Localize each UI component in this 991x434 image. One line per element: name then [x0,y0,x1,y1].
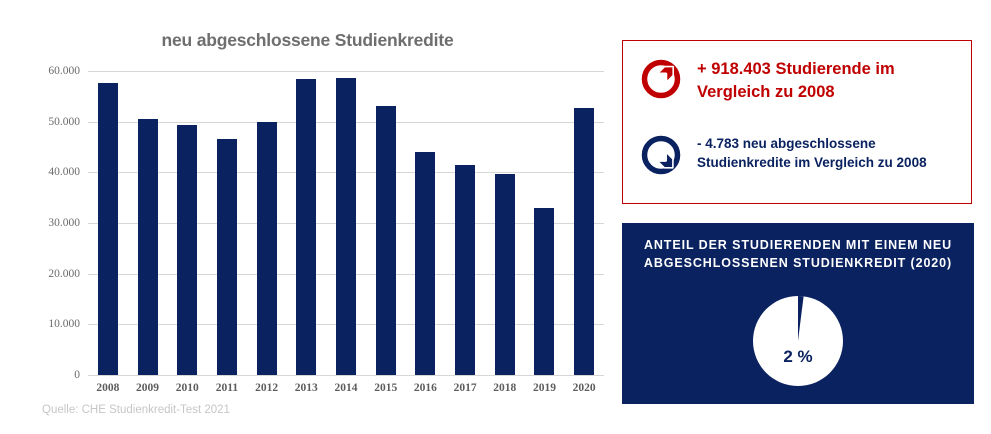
x-tick-label-2020: 2020 [562,382,606,394]
x-tick-label-2019: 2019 [522,382,566,394]
bar-chart-panel: neu abgeschlossene Studienkredite 60.000… [0,0,615,434]
pie-panel-title: ANTEIL DER STUDIERENDEN MIT EINEM NEU AB… [640,237,956,273]
chart-title: neu abgeschlossene Studienkredite [0,30,615,51]
y-tick-label: 60.000 [24,65,80,77]
bar-2020 [574,108,594,375]
x-tick-label-2011: 2011 [205,382,249,394]
x-tick-label-2016: 2016 [403,382,447,394]
stat-text-students: + 918.403 Studierende im Vergleich zu 20… [697,57,949,104]
x-tick-label-2010: 2010 [165,382,209,394]
x-tick-label-2012: 2012 [245,382,289,394]
x-tick-label-2018: 2018 [483,382,527,394]
arrow-up-right-circle-icon [639,57,683,106]
bar-2015 [376,106,396,375]
bar-2017 [455,165,475,375]
plot-area [88,71,604,375]
bar-2011 [217,139,237,375]
y-tick-label: 30.000 [24,217,80,229]
x-tick-label-2013: 2013 [284,382,328,394]
y-tick-label: 40.000 [24,166,80,178]
gridline [88,375,604,376]
x-tick-label-2017: 2017 [443,382,487,394]
bar-2012 [257,122,277,375]
stat-row-students: + 918.403 Studierende im Vergleich zu 20… [639,57,949,106]
y-tick-label: 0 [24,369,80,381]
y-tick-label: 20.000 [24,268,80,280]
x-tick-label-2014: 2014 [324,382,368,394]
arrow-down-right-circle-icon [639,133,683,182]
x-tick-label-2008: 2008 [86,382,130,394]
bar-2008 [98,83,118,375]
y-tick-label: 10.000 [24,318,80,330]
bar-2010 [177,125,197,375]
y-axis-labels: 60.00050.00040.00030.00020.00010.0000 [20,71,80,375]
source-note: Quelle: CHE Studienkredit-Test 2021 [42,404,230,416]
bar-2013 [296,79,316,375]
x-tick-label-2009: 2009 [126,382,170,394]
y-tick-label: 50.000 [24,116,80,128]
bar-2014 [336,78,356,375]
pie-value-label: 2 % [752,347,844,367]
gridline [88,71,604,72]
pie-chart: 2 % [752,295,844,387]
bar-2009 [138,119,158,375]
bar-2018 [495,174,515,375]
pie-panel: ANTEIL DER STUDIERENDEN MIT EINEM NEU AB… [622,223,974,404]
bar-2019 [534,208,554,375]
bar-2016 [415,152,435,375]
stat-text-credits: - 4.783 neu abgeschlossene Studienkredit… [697,133,937,172]
stats-box: + 918.403 Studierende im Vergleich zu 20… [622,40,972,204]
stat-row-credits: - 4.783 neu abgeschlossene Studienkredit… [639,133,937,182]
x-tick-label-2015: 2015 [364,382,408,394]
